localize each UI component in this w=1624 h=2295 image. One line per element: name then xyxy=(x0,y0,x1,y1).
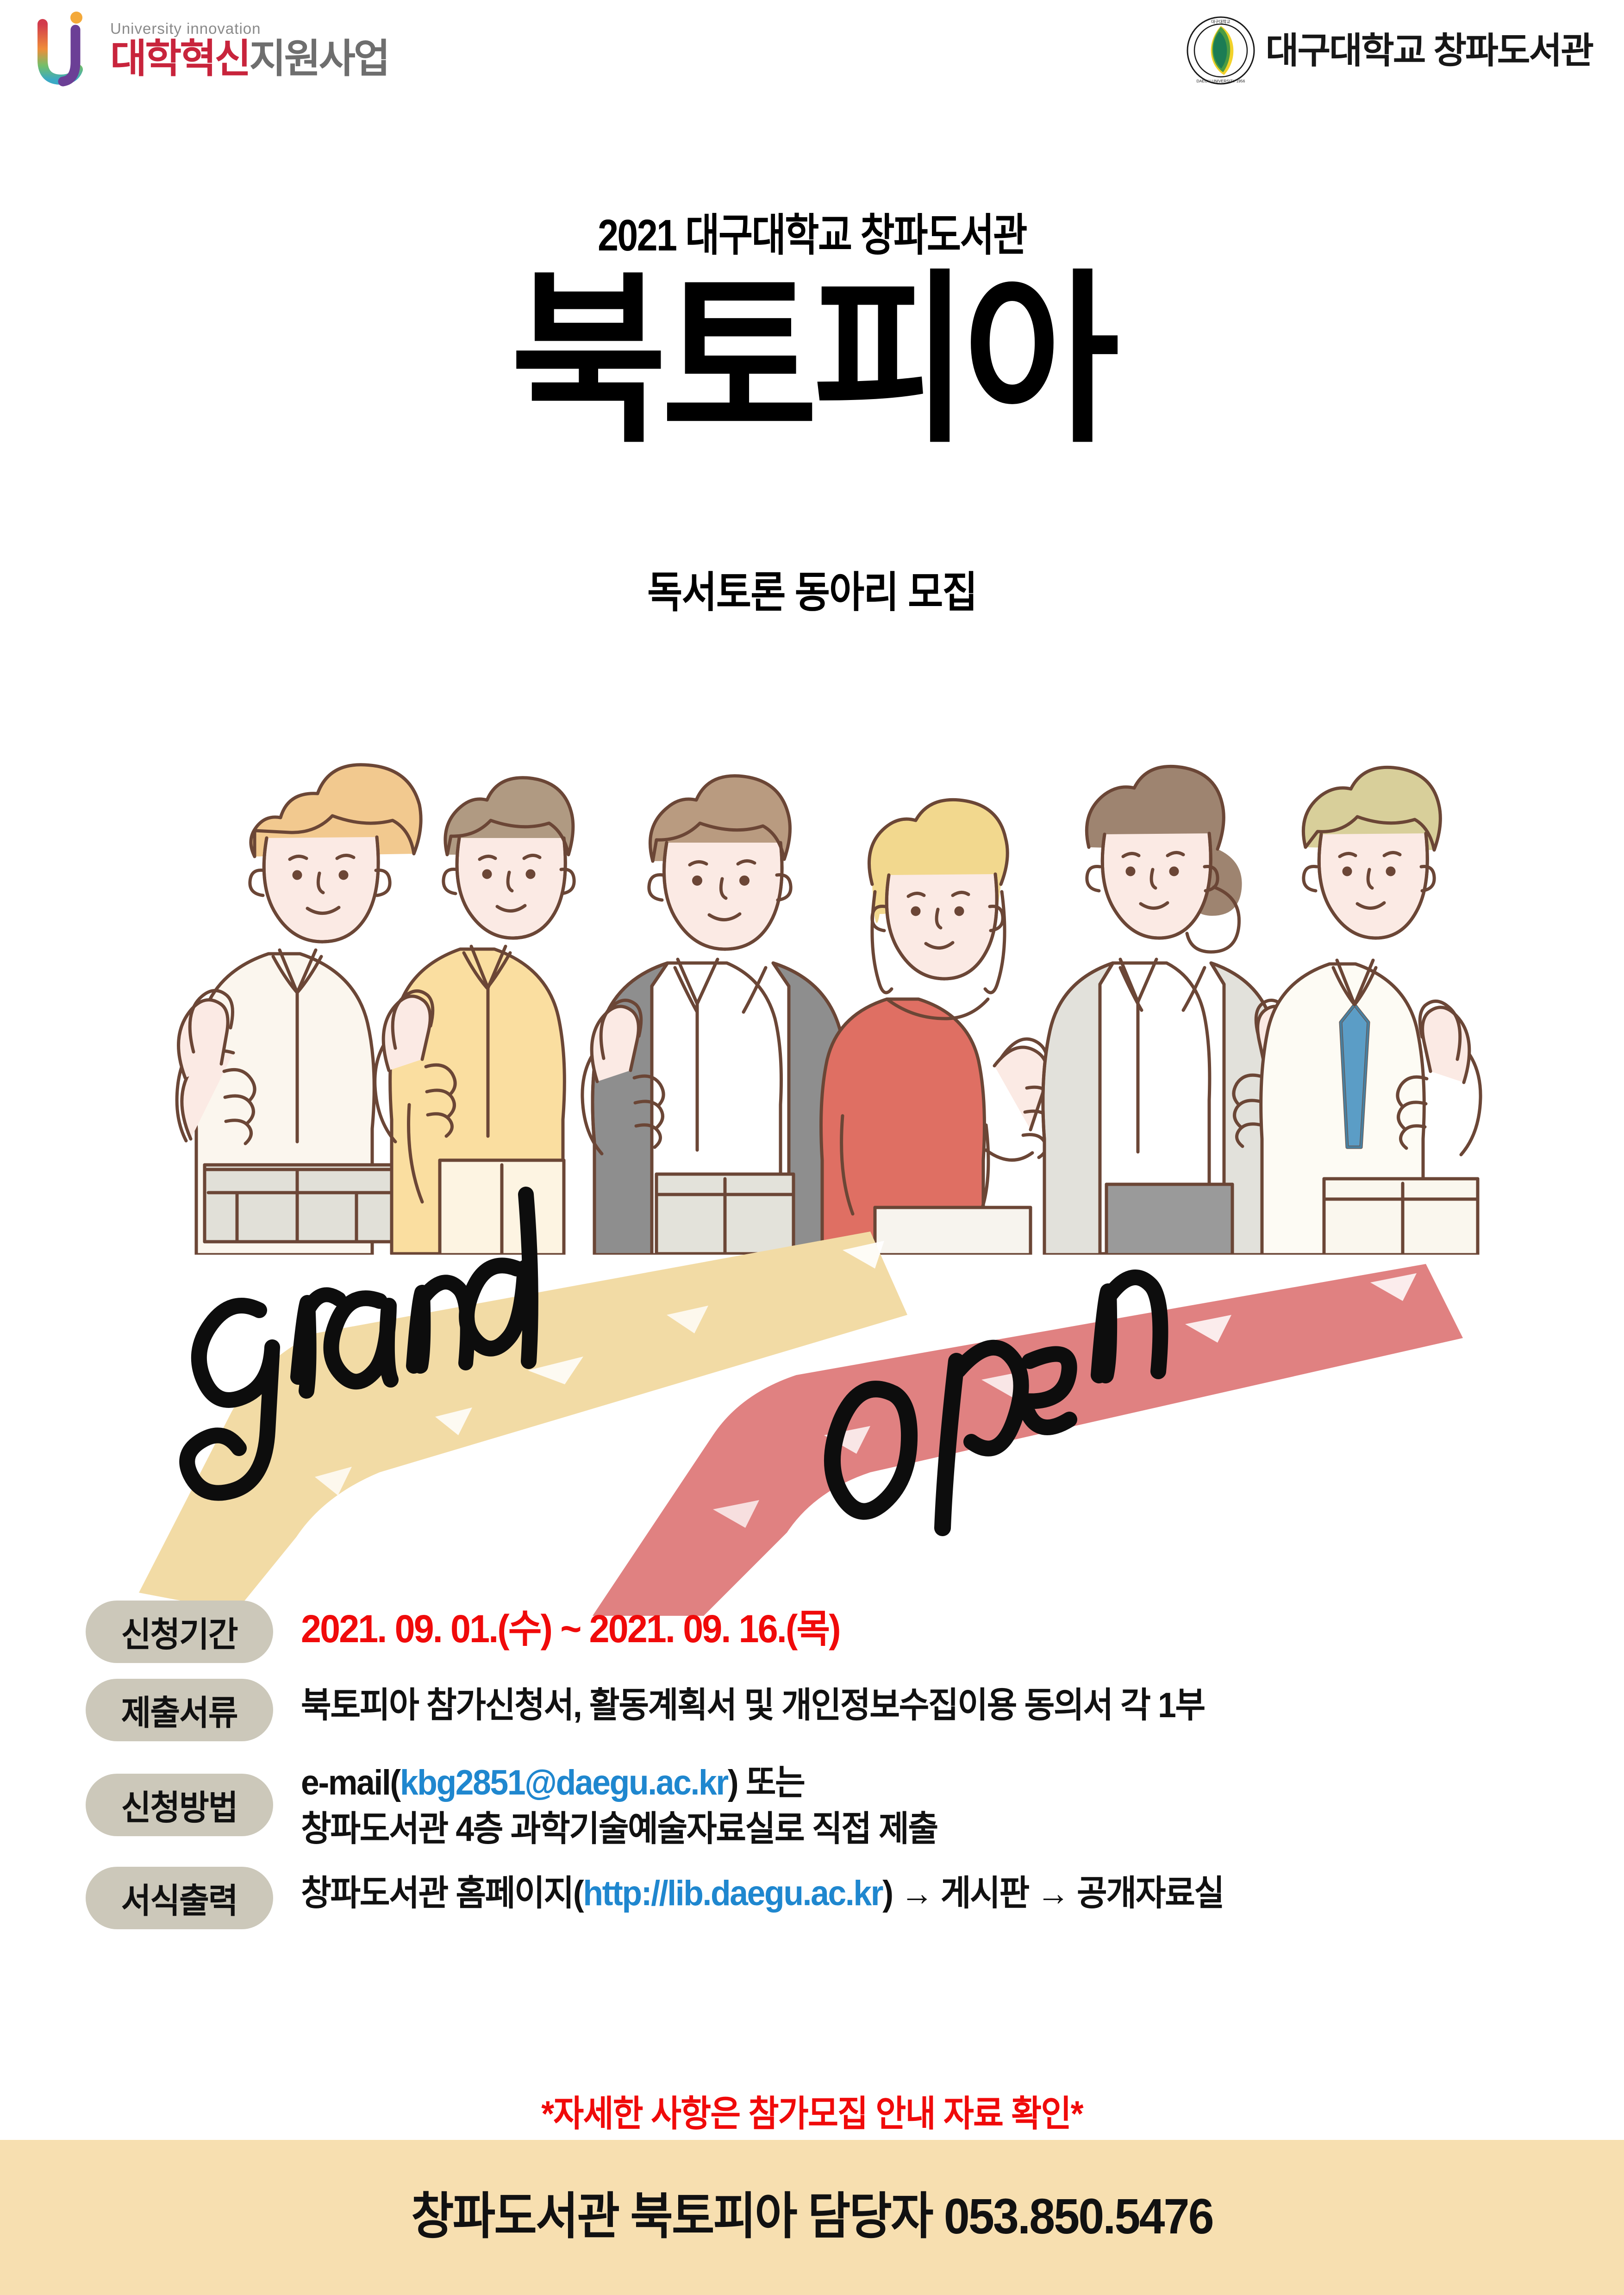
info-row-forms-body: 창파도서관 홈페이지(http://lib.daegu.ac.kr) → 게시판… xyxy=(301,1867,1282,1917)
svg-text:대구대학교: 대구대학교 xyxy=(1211,19,1230,24)
footer-contact-text: 창파도서관 북토피아 담당자 053.850.5476 xyxy=(57,2176,1567,2248)
poster-title: 북토피아 xyxy=(65,266,1559,455)
ui-logo-tagline: University innovation xyxy=(110,21,388,36)
contact-email-link[interactable]: kbg2851@daegu.ac.kr xyxy=(400,1763,728,1802)
pill-label-method: 신청방법 xyxy=(86,1774,273,1836)
ui-logo-korean: 대학혁신지원사업 xyxy=(110,39,388,79)
forms-suffix: ) → 게시판 → 공개자료실 xyxy=(882,1874,1224,1913)
info-row-documents-body: 북토피아 참가신청서, 활동계획서 및 개인정보수집이용 동의서 각 1부 xyxy=(301,1679,1262,1729)
method-email-prefix: e-mail( xyxy=(301,1763,400,1802)
method-line-email: e-mail(kbg2851@daegu.ac.kr) 또는 xyxy=(301,1760,937,1806)
method-email-suffix: ) 또는 xyxy=(728,1763,805,1802)
university-innovation-logo: University innovation 대학혁신지원사업 xyxy=(32,10,388,89)
ui-logo-korean-red: 대학혁신 xyxy=(110,37,249,81)
pill-label-period-text: 신청기간 xyxy=(121,1607,237,1657)
library-logo: 대구대학교 DAEGU UNIVERSITY 1956 대구대학교 창파도서관 xyxy=(1186,16,1593,85)
forms-line: 창파도서관 홈페이지(http://lib.daegu.ac.kr) → 게시판… xyxy=(301,1870,1224,1917)
ui-logo-korean-gray: 지원사업 xyxy=(249,37,388,81)
info-row-forms: 서식출력 창파도서관 홈페이지(http://lib.daegu.ac.kr) … xyxy=(86,1867,1567,1929)
pill-label-forms: 서식출력 xyxy=(86,1867,273,1929)
library-logo-name: 대구대학교 창파도서관 xyxy=(1266,32,1593,69)
pill-label-method-text: 신청방법 xyxy=(121,1780,237,1830)
pill-label-documents: 제출서류 xyxy=(86,1679,273,1741)
ui-swoosh-icon xyxy=(32,10,102,89)
info-row-method-body: e-mail(kbg2851@daegu.ac.kr) 또는 창파도서관 4층 … xyxy=(301,1756,978,1853)
pill-label-period: 신청기간 xyxy=(86,1601,273,1663)
poster-root: University innovation 대학혁신지원사업 대구대학교 DAE… xyxy=(0,0,1624,2295)
method-line-inperson: 창파도서관 4층 과학기술예술자료실로 직접 제출 xyxy=(301,1806,937,1852)
info-row-method: 신청방법 e-mail(kbg2851@daegu.ac.kr) 또는 창파도서… xyxy=(86,1756,1567,1853)
forms-prefix: 창파도서관 홈페이지( xyxy=(301,1874,583,1913)
grand-open-artwork xyxy=(120,1176,1518,1616)
required-documents-value: 북토피아 참가신청서, 활동계획서 및 개인정보수집이용 동의서 각 1부 xyxy=(301,1682,1205,1729)
library-homepage-link[interactable]: http://lib.daegu.ac.kr xyxy=(583,1874,882,1913)
info-row-documents: 제출서류 북토피아 참가신청서, 활동계획서 및 개인정보수집이용 동의서 각 … xyxy=(86,1679,1567,1741)
pill-label-documents-text: 제출서류 xyxy=(121,1685,237,1735)
application-period-value: 2021. 09. 01.(수) ~ 2021. 09. 16.(목) xyxy=(301,1603,840,1655)
daegu-university-seal-icon: 대구대학교 DAEGU UNIVERSITY 1956 xyxy=(1186,16,1255,85)
poster-eyebrow: 2021 대구대학교 창파도서관 xyxy=(130,199,1494,263)
people-illustration xyxy=(116,597,1509,1255)
info-row-period: 신청기간 2021. 09. 01.(수) ~ 2021. 09. 16.(목) xyxy=(86,1600,1567,1663)
info-table: 신청기간 2021. 09. 01.(수) ~ 2021. 09. 16.(목)… xyxy=(86,1600,1567,1942)
svg-text:DAEGU UNIVERSITY 1956: DAEGU UNIVERSITY 1956 xyxy=(1196,79,1245,83)
detail-note: *자세한 사항은 참가모집 안내 자료 확인* xyxy=(65,2085,1559,2137)
info-row-period-body: 2021. 09. 01.(수) ~ 2021. 09. 16.(목) xyxy=(301,1600,874,1655)
pill-label-forms-text: 서식출력 xyxy=(121,1873,237,1923)
